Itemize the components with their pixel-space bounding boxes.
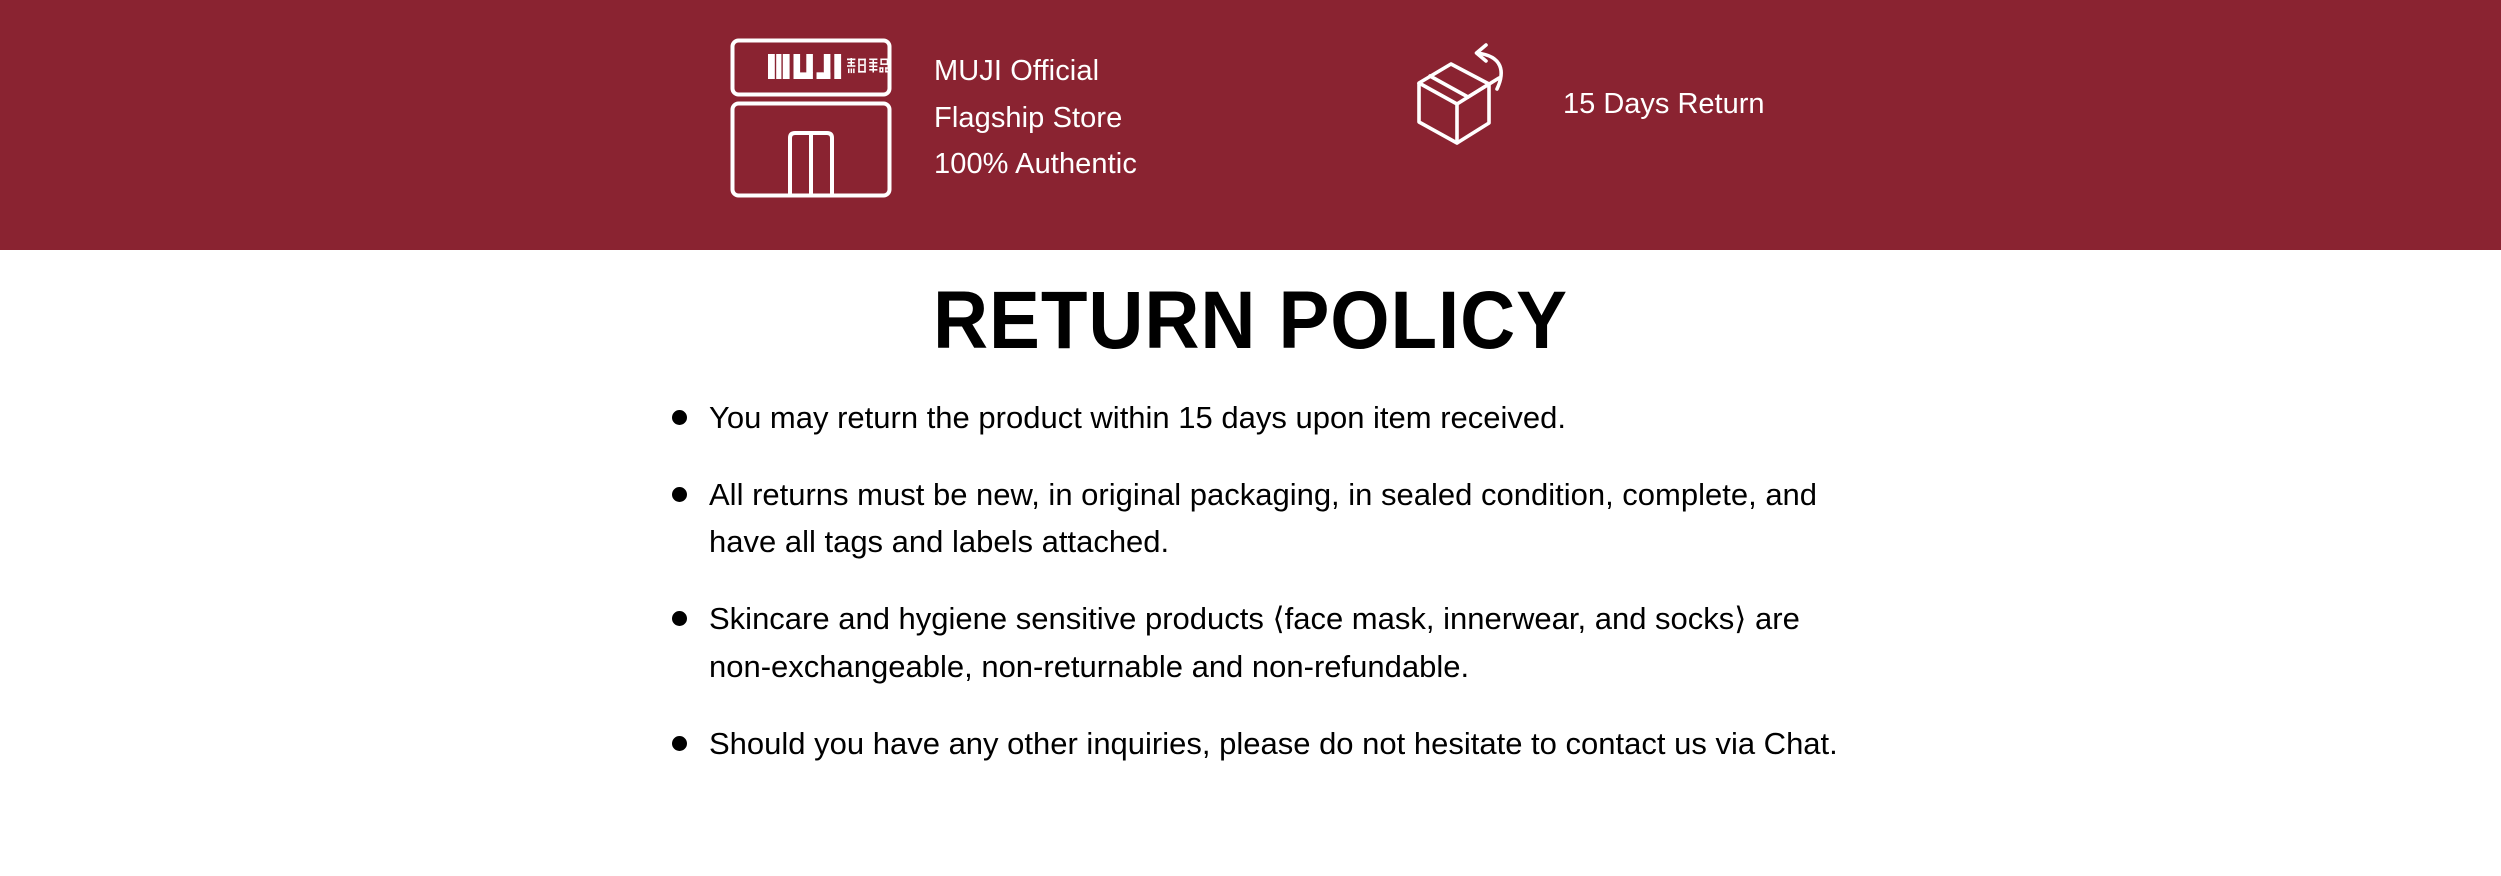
promo-banner: MUJI Official Flagship Store 100% Authen… xyxy=(0,0,2501,250)
store-line-1: MUJI Official xyxy=(934,48,1137,95)
list-item: You may return the product within 15 day… xyxy=(672,394,1972,442)
feature-return-policy: 15 Days Return xyxy=(1415,42,1765,147)
list-item-text: All returns must be new, in original pac… xyxy=(709,471,1869,566)
bullet-icon xyxy=(672,611,687,626)
list-item-text: You may return the product within 15 day… xyxy=(709,394,1566,442)
feature-official-store: MUJI Official Flagship Store 100% Authen… xyxy=(730,38,1137,198)
list-item: All returns must be new, in original pac… xyxy=(672,471,1972,566)
policy-section: RETURN POLICY You may return the product… xyxy=(0,250,2501,767)
list-item: Skincare and hygiene sensitive products … xyxy=(672,595,1972,690)
list-item: Should you have any other inquiries, ple… xyxy=(672,720,1972,768)
store-text-block: MUJI Official Flagship Store 100% Authen… xyxy=(934,48,1137,189)
list-item-text: Skincare and hygiene sensitive products … xyxy=(709,595,1869,690)
return-box-icon xyxy=(1415,42,1535,147)
banner-content: MUJI Official Flagship Store 100% Authen… xyxy=(0,0,2501,250)
bullet-icon xyxy=(672,736,687,751)
store-line-3: 100% Authentic xyxy=(934,141,1137,188)
storefront-icon xyxy=(730,38,892,198)
bullet-icon xyxy=(672,410,687,425)
bullet-icon xyxy=(672,487,687,502)
policy-list: You may return the product within 15 day… xyxy=(672,394,1972,767)
page-title: RETURN POLICY xyxy=(88,274,2414,368)
list-item-text: Should you have any other inquiries, ple… xyxy=(709,720,1838,768)
return-days-label: 15 Days Return xyxy=(1563,90,1765,119)
store-line-2: Flagship Store xyxy=(934,95,1137,142)
